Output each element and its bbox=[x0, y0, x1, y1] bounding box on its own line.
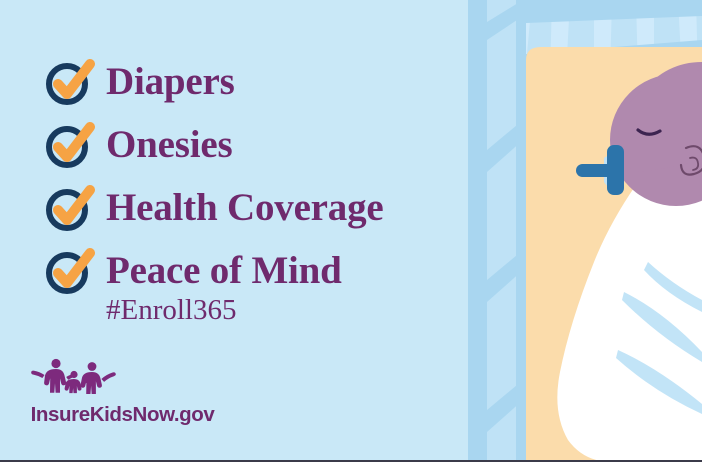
crib-post-left bbox=[465, 0, 487, 462]
crib-post-inner bbox=[516, 0, 526, 462]
checklist-item-label: Onesies bbox=[106, 125, 232, 164]
crib-scene-svg bbox=[452, 0, 702, 462]
checklist-item-label: Diapers bbox=[106, 62, 235, 101]
checklist-item-label: Health Coverage bbox=[106, 188, 384, 227]
check-circle-icon bbox=[44, 56, 96, 108]
list-item: Onesies bbox=[44, 113, 464, 176]
family-figures-icon bbox=[30, 358, 215, 399]
left-content-panel: Diapers Onesies Health bbox=[0, 0, 468, 462]
list-item: Peace of Mind bbox=[44, 239, 464, 302]
list-item: Diapers bbox=[44, 50, 464, 113]
logo-wordmark: InsureKidsNow.gov bbox=[30, 403, 215, 427]
check-circle-icon bbox=[44, 119, 96, 171]
insure-kids-now-logo: InsureKidsNow.gov bbox=[30, 358, 215, 427]
check-circle-icon bbox=[44, 182, 96, 234]
pacifier-handle bbox=[576, 164, 614, 177]
poster-canvas: Diapers Onesies Health bbox=[0, 0, 702, 462]
checklist-item-label: Peace of Mind bbox=[106, 251, 342, 290]
checklist: Diapers Onesies Health bbox=[44, 50, 464, 302]
sleeping-baby-in-crib-illustration bbox=[452, 0, 702, 462]
hashtag-text: #Enroll365 bbox=[106, 294, 237, 327]
check-circle-icon bbox=[44, 245, 96, 297]
list-item: Health Coverage bbox=[44, 176, 464, 239]
